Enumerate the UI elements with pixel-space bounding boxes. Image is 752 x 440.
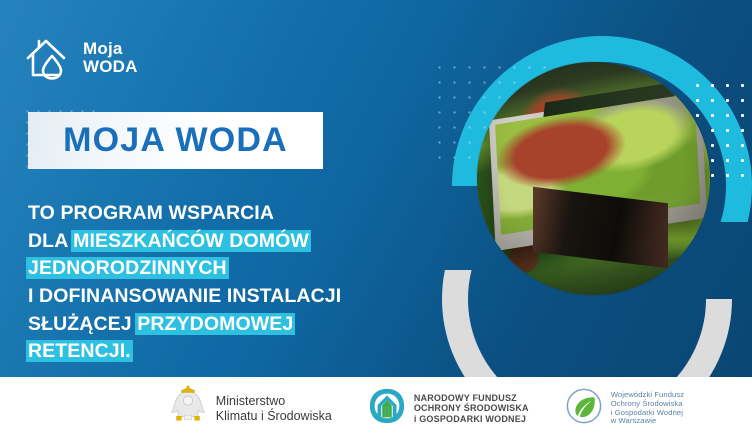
nfosigw-logo-text: NARODOWY FUNDUSZ OCHRONY ŚRODOWISKA i GO… <box>414 393 529 425</box>
ministry-line-2: Klimatu i Środowiska <box>216 409 332 423</box>
headline-run-2-1: DLA <box>28 230 73 252</box>
nfosigw-line-2: OCHRONY ŚRODOWISKA <box>414 403 529 413</box>
wfosigw-line-1: Wojewódzki Fundusz <box>611 390 684 399</box>
house-with-waterdrop-icon <box>22 32 74 84</box>
wfosigw-line-4: w Warszawie <box>611 416 657 425</box>
headline-run-6-1: RETENCJI. <box>28 340 131 362</box>
polish-eagle-emblem-icon <box>168 385 208 432</box>
moja-woda-logo-text: Moja WODA <box>83 40 138 77</box>
wfosigw-warszawa-logo: Wojewódzki Fundusz Ochrony Środowiska i … <box>565 387 684 430</box>
nfosigw-logo: NARODOWY FUNDUSZ OCHRONY ŚRODOWISKA i GO… <box>368 387 529 430</box>
moja-woda-logo: Moja WODA <box>22 27 166 89</box>
headline-run-4-1: I DOFINANSOWANIE INSTALACJI <box>28 285 341 307</box>
nfosigw-line-3: i GOSPODARKI WODNEJ <box>414 414 526 424</box>
headline-line-4: I DOFINANSOWANIE INSTALACJI <box>28 283 428 311</box>
headline-line-2: DLA MIESZKAŃCÓW DOMÓW <box>28 228 428 256</box>
wfosigw-line-2: Ochrony Środowiska <box>611 399 683 408</box>
headline-run-5-2: PRZYDOMOWEJ <box>137 313 293 335</box>
wfosigw-line-3: i Gospodarki Wodnej <box>611 408 683 417</box>
headline-line-5: SŁUŻĄCEJ PRZYDOMOWEJ <box>28 311 428 339</box>
nfosigw-line-1: NARODOWY FUNDUSZ <box>414 393 517 403</box>
ministry-of-climate-logo: Ministerstwo Klimatu i Środowiska <box>168 385 332 432</box>
headline-run-1-1: TO PROGRAM WSPARCIA <box>28 202 274 224</box>
headline-run-2-2: MIESZKAŃCÓW DOMÓW <box>73 230 309 252</box>
headline-text: TO PROGRAM WSPARCIADLA MIESZKAŃCÓW DOMÓW… <box>28 200 428 366</box>
headline-run-3-1: JEDNORODZINNYCH <box>28 257 227 279</box>
headline-line-3: JEDNORODZINNYCH <box>28 255 428 283</box>
logo-line-1: Moja <box>83 40 138 58</box>
nfosigw-tree-shield-icon <box>368 387 406 430</box>
moja-woda-banner: Moja WODA MOJA WODA TO PROGRAM WSPARCIAD… <box>0 0 752 440</box>
logo-line-2: WODA <box>83 58 138 76</box>
ministry-logo-text: Ministerstwo Klimatu i Środowiska <box>216 394 332 424</box>
title-plate: MOJA WODA <box>28 112 323 169</box>
footer-logo-strip: Ministerstwo Klimatu i Środowiska NARODO… <box>0 377 752 440</box>
green-roof-photo <box>477 62 710 295</box>
ministry-line-1: Ministerstwo <box>216 394 285 408</box>
headline-line-1: TO PROGRAM WSPARCIA <box>28 200 428 228</box>
wfosigw-logo-text: Wojewódzki Fundusz Ochrony Środowiska i … <box>611 391 684 427</box>
green-leaf-circle-icon <box>565 387 603 430</box>
page-title: MOJA WODA <box>63 121 288 160</box>
headline-line-6: RETENCJI. <box>28 338 428 366</box>
headline-run-5-1: SŁUŻĄCEJ <box>28 313 137 335</box>
photo-vignette <box>477 62 710 295</box>
